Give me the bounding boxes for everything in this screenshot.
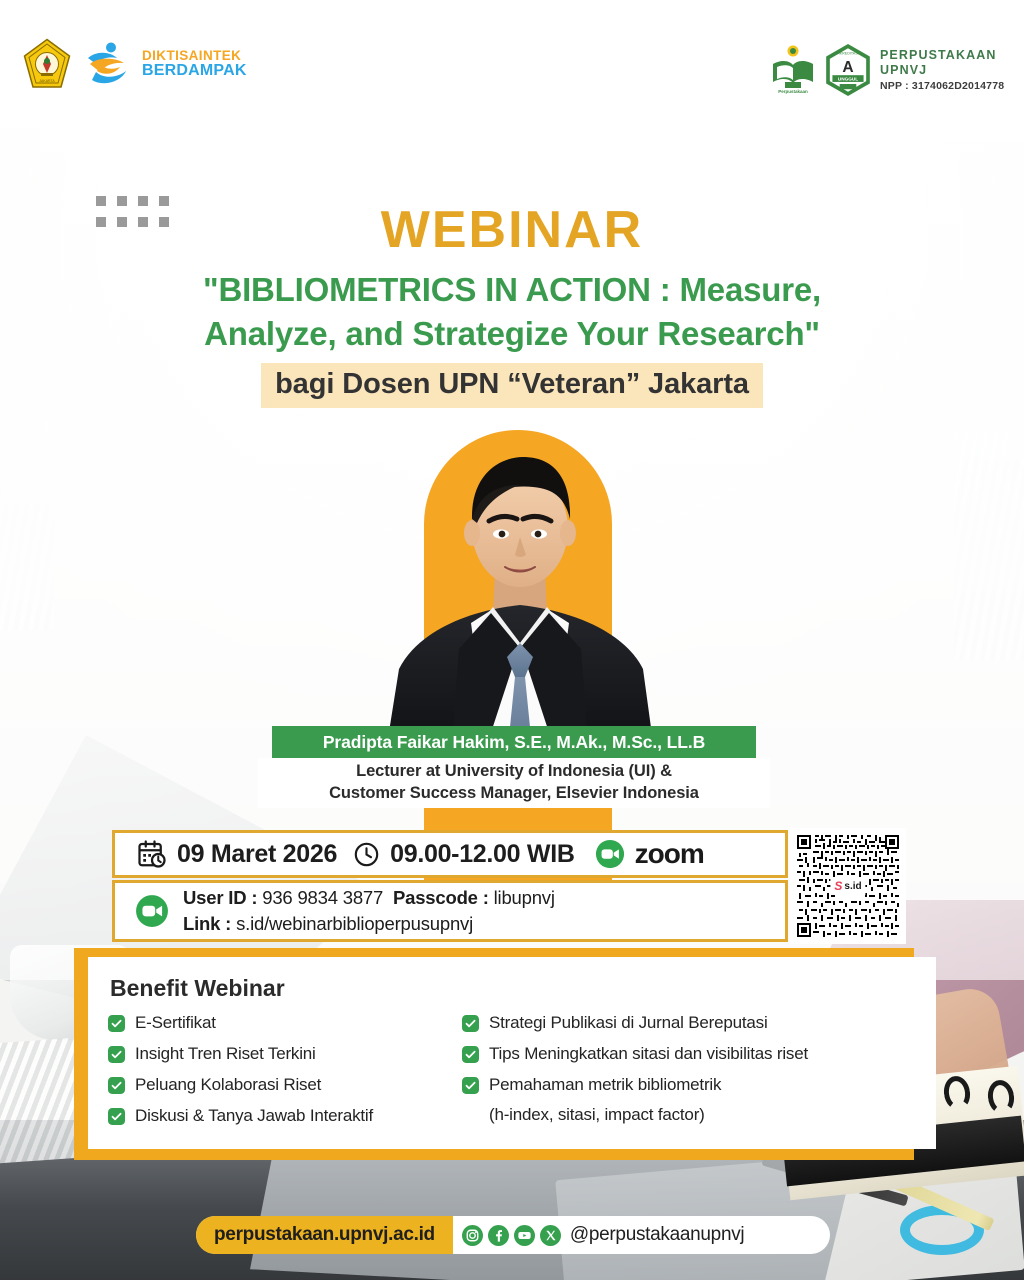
- accreditation-a-badge-icon: AKREDITASI A UNGGUL: [824, 43, 872, 97]
- perpustakaan-logo-icon: Perpustakaan: [770, 44, 816, 96]
- footer-bar: perpustakaan.upnvj.ac.id @perpu: [196, 1216, 830, 1254]
- user-id-label: User ID :: [183, 887, 257, 908]
- website-url[interactable]: perpustakaan.upnvj.ac.id: [196, 1216, 453, 1254]
- diktisaintek-logo-card: JAKARTA DIKTISAINTEK BERDAMPAK: [0, 0, 258, 128]
- check-circle-icon: [462, 1046, 479, 1063]
- benefit-list-right: Strategi Publikasi di Jurnal Bereputasi …: [462, 1012, 932, 1135]
- benefit-label: Pemahaman metrik bibliometrik: [489, 1074, 721, 1095]
- speaker-role: Lecturer at University of Indonesia (UI)…: [258, 758, 770, 808]
- svg-text:UNGGUL: UNGGUL: [838, 76, 858, 81]
- speaker-role-line2: Customer Success Manager, Elsevier Indon…: [329, 783, 699, 805]
- benefit-list-left: E-Sertifikat Insight Tren Riset Terkini …: [108, 1012, 468, 1136]
- page-title-kicker: WEBINAR: [0, 200, 1024, 260]
- list-item: Pemahaman metrik bibliometrik: [462, 1074, 932, 1105]
- speaker-name: Pradipta Faikar Hakim, S.E., M.Ak., M.Sc…: [272, 726, 756, 758]
- clock-icon: [353, 841, 380, 868]
- check-circle-icon: [108, 1077, 125, 1094]
- benefit-label: Diskusi & Tanya Jawab Interaktif: [135, 1105, 373, 1126]
- calendar-icon: [137, 839, 167, 869]
- youtube-icon[interactable]: [514, 1225, 535, 1246]
- page-title: "BIBLIOMETRICS IN ACTION : Measure, Anal…: [62, 268, 962, 355]
- benefit-subnote: (h-index, sitasi, impact factor): [462, 1105, 932, 1135]
- zoom-link-line[interactable]: Link : s.id/webinarbiblioperpusupnvj: [183, 911, 555, 937]
- qr-code[interactable]: S s.id: [790, 828, 906, 944]
- benefit-label: Insight Tren Riset Terkini: [135, 1043, 316, 1064]
- svg-text:JAKARTA: JAKARTA: [39, 79, 55, 83]
- zoom-credentials-line: User ID : 936 9834 3877 Passcode : libup…: [183, 885, 555, 911]
- list-item: Diskusi & Tanya Jawab Interaktif: [108, 1105, 468, 1136]
- list-item: E-Sertifikat: [108, 1012, 468, 1043]
- link-label: Link :: [183, 913, 231, 934]
- list-item: Insight Tren Riset Terkini: [108, 1043, 468, 1074]
- link-value[interactable]: s.id/webinarbiblioperpusupnvj: [236, 913, 473, 934]
- page-subtitle-wrap: bagi Dosen UPN “Veteran” Jakarta: [0, 363, 1024, 408]
- perpustakaan-line2: UPNVJ: [880, 63, 1004, 78]
- event-date: 09 Maret 2026: [177, 840, 337, 869]
- page-title-line2: Analyze, and Strategize Your Research": [62, 312, 962, 356]
- perpustakaan-logo-card: Perpustakaan AKREDITASI A UNGGUL PERPUST…: [752, 0, 1024, 140]
- diktisaintek-line1: DIKTISAINTEK: [142, 49, 247, 63]
- svg-text:A: A: [842, 59, 853, 76]
- check-circle-icon: [462, 1015, 479, 1032]
- facebook-icon[interactable]: [488, 1225, 509, 1246]
- platform-name: zoom: [635, 838, 704, 870]
- benefit-label: Peluang Kolaborasi Riset: [135, 1074, 321, 1095]
- benefit-label: Strategi Publikasi di Jurnal Bereputasi: [489, 1012, 768, 1033]
- list-item: Peluang Kolaborasi Riset: [108, 1074, 468, 1105]
- zoom-video-icon: [135, 894, 169, 928]
- diktisaintek-line2: BERDAMPAK: [142, 63, 247, 80]
- check-circle-icon: [108, 1108, 125, 1125]
- event-access-box: User ID : 936 9834 3877 Passcode : libup…: [112, 880, 788, 942]
- instagram-icon[interactable]: [462, 1225, 483, 1246]
- x-icon[interactable]: [540, 1225, 561, 1246]
- webinar-poster: JAKARTA DIKTISAINTEK BERDAMPAK Perpustak…: [0, 0, 1024, 1280]
- npp-number: NPP : 3174062D2014778: [880, 80, 1004, 93]
- upnvj-seal-icon: JAKARTA: [22, 38, 72, 90]
- qr-center-logo: S s.id: [830, 877, 865, 895]
- list-item: Strategi Publikasi di Jurnal Bereputasi: [462, 1012, 932, 1043]
- event-datetime-box: 09 Maret 2026 09.00-12.00 WIB zoom: [112, 830, 788, 878]
- zoom-video-icon: [595, 839, 625, 869]
- user-id-value: 936 9834 3877: [262, 887, 383, 908]
- qr-center-label: s.id: [844, 881, 861, 892]
- s-id-mark-icon: S: [834, 879, 842, 893]
- page-title-line1: "BIBLIOMETRICS IN ACTION : Measure,: [62, 268, 962, 312]
- qr-code-image[interactable]: S s.id: [795, 833, 901, 939]
- check-circle-icon: [108, 1015, 125, 1032]
- perpustakaan-line1: PERPUSTAKAAN: [880, 48, 1004, 63]
- list-item: Tips Meningkatkan sitasi dan visibilitas…: [462, 1043, 932, 1074]
- social-handle: @perpustakaanupnvj: [570, 1224, 744, 1246]
- speaker-portrait: [355, 437, 685, 757]
- page-subtitle: bagi Dosen UPN “Veteran” Jakarta: [261, 363, 763, 408]
- svg-text:AKREDITASI: AKREDITASI: [837, 51, 858, 55]
- passcode-value: libupnvj: [494, 887, 555, 908]
- social-icons: [453, 1225, 570, 1246]
- benefit-label: Tips Meningkatkan sitasi dan visibilitas…: [489, 1043, 808, 1064]
- benefit-label: E-Sertifikat: [135, 1012, 216, 1033]
- event-time: 09.00-12.00 WIB: [390, 840, 575, 869]
- passcode-label: Passcode :: [393, 887, 489, 908]
- check-circle-icon: [108, 1046, 125, 1063]
- benefit-heading: Benefit Webinar: [110, 975, 285, 1002]
- speaker-role-line1: Lecturer at University of Indonesia (UI)…: [356, 761, 672, 783]
- check-circle-icon: [462, 1077, 479, 1094]
- svg-text:Perpustakaan: Perpustakaan: [778, 89, 808, 94]
- diktisaintek-mark-icon: [82, 41, 132, 87]
